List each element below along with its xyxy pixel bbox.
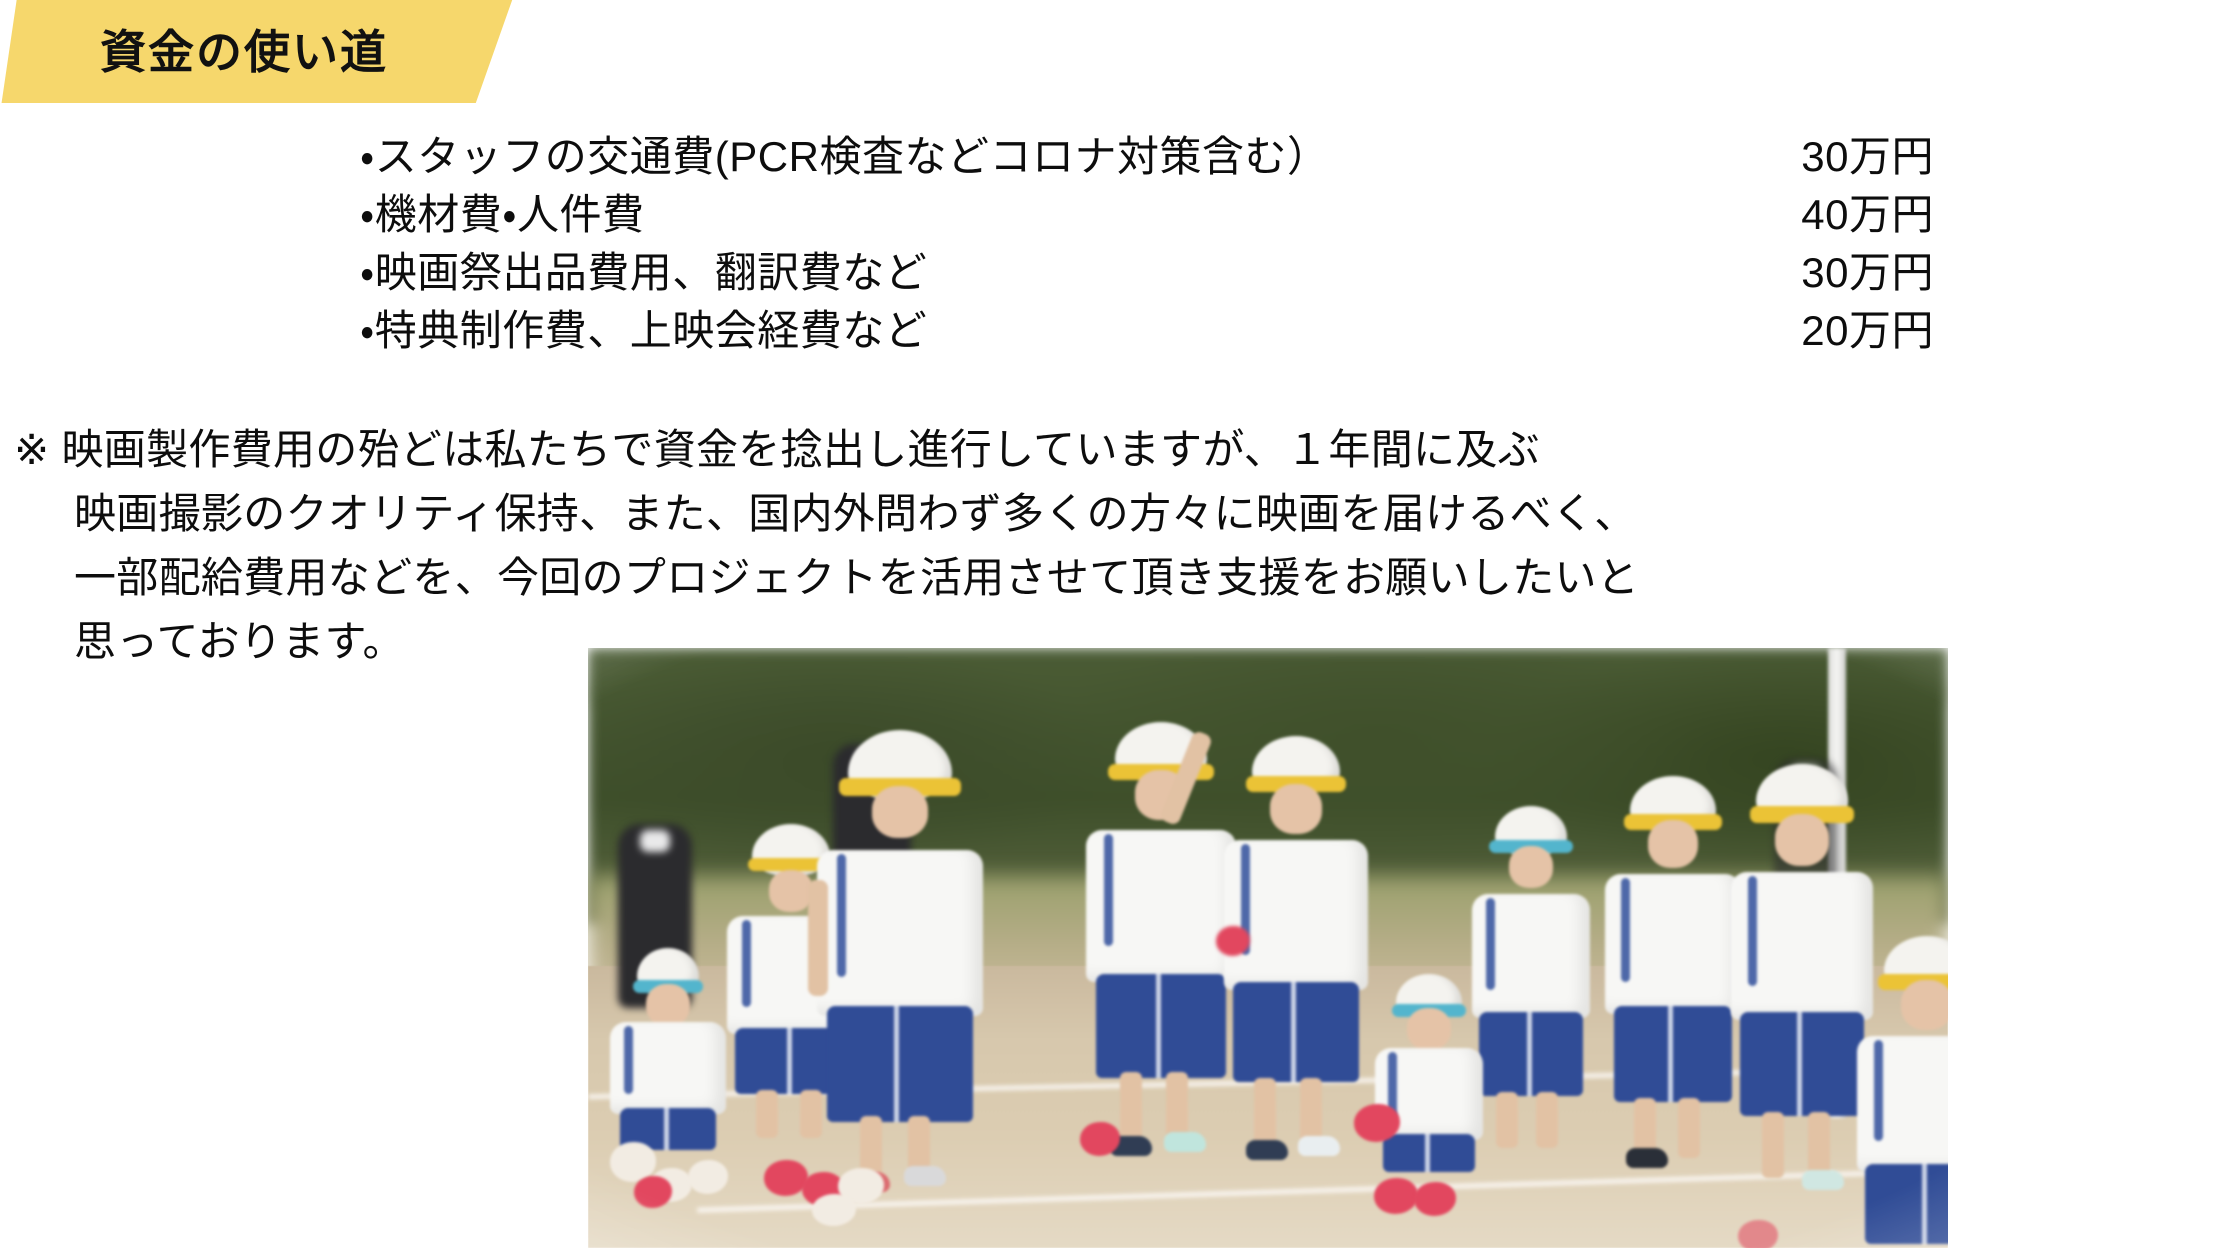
photo-child-face xyxy=(1648,820,1698,868)
note-line-text: 映画撮影のクオリティ保持、また、国内外問わず多くの方々に映画を届けるべく、 xyxy=(74,490,1637,537)
note-line-text: 映画製作費用の殆どは私たちで資金を捻出し進行していますが、１年間に及ぶ xyxy=(62,426,1540,473)
note-line: 一部配給費用などを、今回のプロジェクトを活用させて頂き支援をお願いしたいと xyxy=(14,546,2214,610)
budget-item-amount: 40万円 xyxy=(1754,186,1950,244)
photo-child-face xyxy=(1270,784,1322,834)
photo-child-shoe xyxy=(1246,1140,1288,1160)
photo-child-shorts xyxy=(1383,1134,1475,1172)
photo-child-leg xyxy=(1762,1112,1784,1178)
note-line-text: 思っております。 xyxy=(74,618,405,665)
note-line: ※映画製作費用の殆どは私たちで資金を捻出し進行していますが、１年間に及ぶ xyxy=(14,418,2214,482)
photo-child-face xyxy=(1775,814,1829,866)
budget-item-label: ・機材費・人件費 xyxy=(360,186,645,244)
photo-child-face xyxy=(1901,980,1948,1030)
photo-child-shorts xyxy=(1865,1164,1948,1244)
note-line-text: 一部配給費用などを、今回のプロジェクトを活用させて頂き支援をお願いしたいと xyxy=(74,554,1639,601)
photo-child-shoe xyxy=(1626,1148,1668,1168)
note-mark: ※ xyxy=(14,418,62,482)
photo-child-right-edge xyxy=(1844,936,1948,1248)
photo-child-leg xyxy=(1808,1112,1830,1178)
sports-day-photo xyxy=(588,648,1948,1248)
photo-child-seated xyxy=(1364,974,1494,1174)
photo-child-shoe xyxy=(1802,1170,1844,1190)
photo-child-shoe xyxy=(904,1166,946,1186)
photo-beanbag-red xyxy=(1738,1220,1778,1248)
photo-child-shorts xyxy=(1479,1012,1583,1096)
photo-child-shorts xyxy=(827,1006,973,1122)
photo-child-shorts xyxy=(1233,982,1359,1082)
photo-child-shirt xyxy=(817,850,983,1016)
photo-child-leg xyxy=(1678,1098,1700,1158)
photo-child-face xyxy=(1407,1008,1451,1050)
photo-child-leg xyxy=(1536,1092,1558,1148)
photo-child-leg xyxy=(1120,1072,1142,1146)
budget-row: ・機材費・人件費 40万円 xyxy=(360,186,1950,244)
photo-child-shirt xyxy=(1857,1036,1948,1172)
budget-item-label: ・映画祭出品費用、翻訳費など xyxy=(360,244,927,302)
photo-child-face xyxy=(872,786,928,838)
photo-child-shoe xyxy=(1164,1132,1206,1152)
budget-item-amount: 30万円 xyxy=(1754,244,1950,302)
budget-item-amount: 20万円 xyxy=(1754,302,1950,360)
photo-child-arm xyxy=(808,880,828,996)
photo-child-leg xyxy=(756,1090,778,1138)
budget-item-label: ・スタッフの交通費(PCR検査などコロナ対策含む） xyxy=(360,128,1329,186)
photo-child-leg xyxy=(1496,1092,1518,1148)
slide-header: 資金の使い道 xyxy=(0,0,760,108)
budget-item-amount: 30万円 xyxy=(1754,128,1950,186)
page-title: 資金の使い道 xyxy=(100,12,520,92)
note-block: ※映画製作費用の殆どは私たちで資金を捻出し進行していますが、１年間に及ぶ 映画撮… xyxy=(14,418,2214,674)
photo-canvas xyxy=(588,648,1948,1248)
photo-child-shoe xyxy=(1298,1136,1340,1156)
photo-child-shirt xyxy=(1224,840,1368,990)
budget-list: ・スタッフの交通費(PCR検査などコロナ対策含む） 30万円 ・機材費・人件費 … xyxy=(360,128,1950,360)
budget-row: ・映画祭出品費用、翻訳費など 30万円 xyxy=(360,244,1950,302)
budget-row: ・スタッフの交通費(PCR検査などコロナ対策含む） 30万円 xyxy=(360,128,1950,186)
photo-child-face xyxy=(1509,846,1553,888)
budget-row: ・特典制作費、上映会経費など 20万円 xyxy=(360,302,1950,360)
budget-item-label: ・特典制作費、上映会経費など xyxy=(360,302,927,360)
photo-child-face xyxy=(646,984,690,1026)
photo-face-mask xyxy=(640,830,670,852)
photo-child-foreground xyxy=(800,730,1000,1200)
photo-child-shirt xyxy=(610,1022,726,1114)
note-line: 映画撮影のクオリティ保持、また、国内外問わず多くの方々に映画を届けるべく、 xyxy=(14,482,2214,546)
